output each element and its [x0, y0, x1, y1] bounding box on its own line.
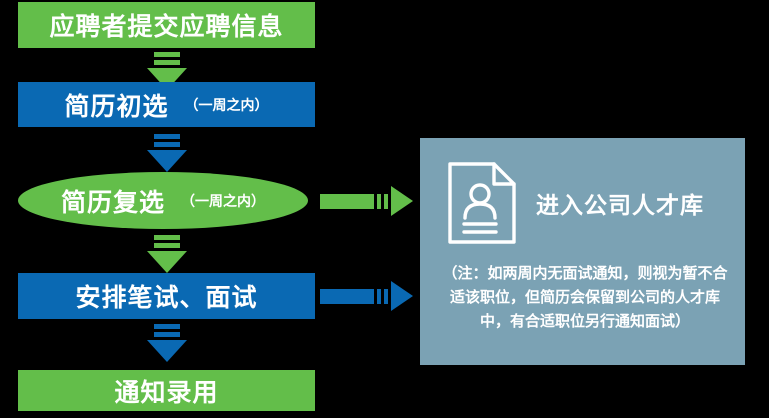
resume-person-icon: [446, 160, 518, 246]
arrow-segment: [377, 194, 381, 209]
talent-pool-header: 进入公司人才库: [446, 160, 704, 246]
arrow-bar: [154, 142, 180, 147]
arrow-bar: [154, 324, 180, 329]
arrow-down-screen2-to-exam: [147, 235, 187, 273]
arrow-right-screen2-to-talent-pool: [320, 186, 413, 216]
flow-node-schedule-exam-interview-label: 安排笔试、面试: [75, 278, 257, 314]
flowchart-canvas: 应聘者提交应聘信息 简历初选 （一周之内） 简历复选 （一周之内） 安排笔试、面…: [0, 0, 769, 418]
arrow-down-screen1-to-screen2: [147, 134, 187, 172]
arrow-bar: [154, 243, 180, 248]
arrow-head: [147, 340, 187, 362]
arrow-bar: [154, 134, 180, 139]
flow-node-apply-label: 应聘者提交应聘信息: [49, 7, 283, 43]
arrow-bar: [154, 332, 180, 337]
arrow-bar: [154, 60, 180, 65]
arrow-segment: [384, 194, 388, 209]
flow-node-resume-screening-1-sublabel: （一周之内）: [185, 95, 269, 115]
arrow-shaft: [320, 289, 374, 304]
talent-pool-panel: 进入公司人才库 （注：如两周内无面试通知，则视为暂不合适该职位，但简历会保留到公…: [420, 138, 745, 365]
flow-node-apply: 应聘者提交应聘信息: [18, 2, 315, 48]
arrow-head: [147, 251, 187, 273]
flow-node-notify-hire-label: 通知录用: [114, 373, 218, 409]
arrow-shaft: [320, 194, 374, 209]
talent-pool-note: （注：如两周内无面试通知，则视为暂不合适该职位，但简历会保留到公司的人才库中，有…: [440, 262, 730, 334]
arrow-bar: [154, 52, 180, 57]
arrow-down-exam-to-hire: [147, 324, 187, 362]
arrow-head: [391, 186, 413, 216]
talent-pool-title: 进入公司人才库: [536, 186, 704, 220]
flow-node-schedule-exam-interview: 安排笔试、面试: [18, 273, 315, 319]
flow-node-resume-screening-1: 简历初选 （一周之内）: [18, 82, 315, 127]
arrow-segment: [377, 289, 381, 304]
flow-node-notify-hire: 通知录用: [18, 370, 315, 411]
flow-node-resume-screening-2: 简历复选 （一周之内）: [18, 172, 308, 229]
flow-node-resume-screening-2-sublabel: （一周之内）: [181, 191, 265, 211]
arrow-bar: [154, 235, 180, 240]
arrow-right-exam-to-talent-pool: [320, 281, 413, 311]
flow-node-resume-screening-1-label: 简历初选: [64, 87, 168, 123]
arrow-segment: [384, 289, 388, 304]
arrow-head: [147, 150, 187, 172]
arrow-head: [391, 281, 413, 311]
flow-node-resume-screening-2-label: 简历复选: [61, 183, 165, 219]
